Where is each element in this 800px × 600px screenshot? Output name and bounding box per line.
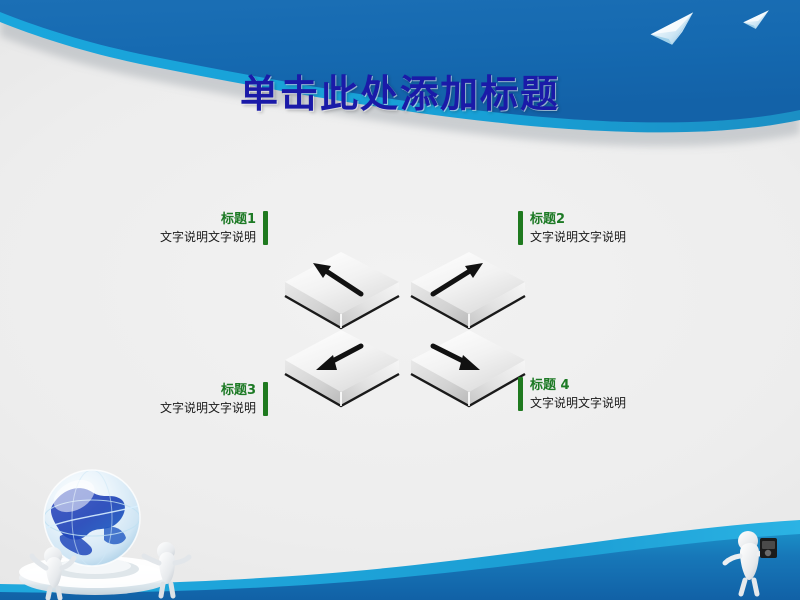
callout-1-text: 标题1 文字说明文字说明 bbox=[160, 211, 256, 245]
callout-4-accent-bar bbox=[518, 377, 523, 411]
figure-decoration-middle bbox=[144, 542, 189, 596]
callout-4-heading: 标题 4 bbox=[530, 377, 570, 395]
callout-2[interactable]: 标题2 文字说明文字说明 bbox=[518, 211, 626, 245]
callout-1-accent-bar bbox=[263, 211, 268, 245]
slide-title[interactable]: 单击此处添加标题 bbox=[0, 63, 800, 118]
callout-4-text: 标题 4 文字说明文字说明 bbox=[530, 377, 626, 411]
figure-decoration-camera bbox=[725, 531, 777, 594]
four-block-arrow-diagram[interactable] bbox=[283, 242, 527, 418]
callout-3-heading: 标题3 bbox=[221, 382, 256, 400]
callout-1-heading: 标题1 bbox=[221, 211, 256, 229]
diagram-block-bottom-left[interactable] bbox=[285, 330, 399, 406]
callout-2-body: 文字说明文字说明 bbox=[530, 229, 626, 246]
callout-4[interactable]: 标题 4 文字说明文字说明 bbox=[518, 377, 626, 411]
diagram-block-top-right[interactable] bbox=[411, 252, 525, 328]
callout-2-heading: 标题2 bbox=[530, 211, 565, 229]
callout-3[interactable]: 标题3 文字说明文字说明 bbox=[160, 382, 268, 416]
diagram-block-top-left[interactable] bbox=[285, 252, 399, 328]
callout-3-body: 文字说明文字说明 bbox=[160, 400, 256, 417]
bottom-decorative-band bbox=[0, 520, 800, 600]
figure-decoration-left bbox=[32, 547, 74, 598]
paper-plane-icon-large bbox=[648, 12, 699, 48]
callout-1-body: 文字说明文字说明 bbox=[160, 229, 256, 246]
diagram-block-bottom-right[interactable] bbox=[411, 330, 525, 406]
globe-decoration bbox=[19, 470, 171, 595]
callout-3-accent-bar bbox=[263, 382, 268, 416]
paper-plane-icon-small bbox=[742, 10, 772, 31]
callout-1[interactable]: 标题1 文字说明文字说明 bbox=[160, 211, 268, 245]
callout-4-body: 文字说明文字说明 bbox=[530, 395, 626, 412]
callout-2-text: 标题2 文字说明文字说明 bbox=[530, 211, 626, 245]
presentation-slide: 单击此处添加标题 bbox=[0, 0, 800, 600]
callout-3-text: 标题3 文字说明文字说明 bbox=[160, 382, 256, 416]
callout-2-accent-bar bbox=[518, 211, 523, 245]
